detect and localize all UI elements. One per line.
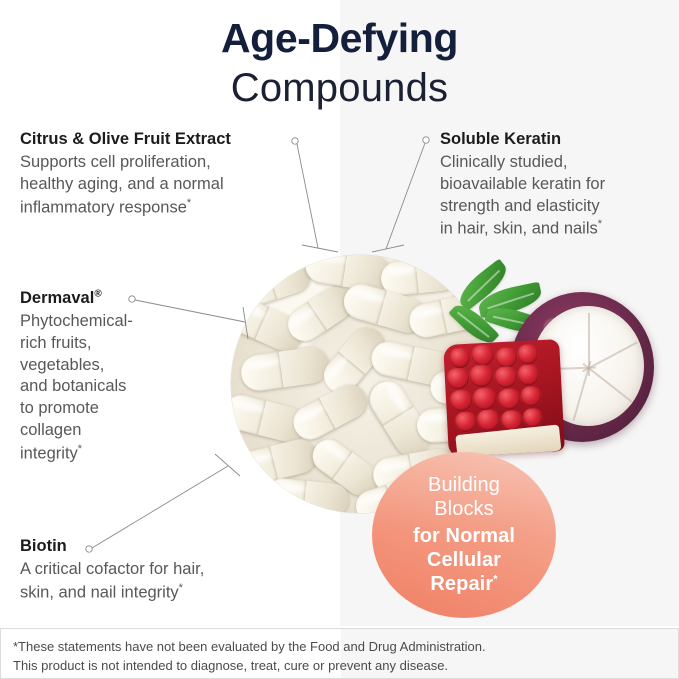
callout-citrus-olive-fruit-extract: Citrus & Olive Fruit Extract Supports ce… — [20, 129, 320, 219]
callout-title: Citrus & Olive Fruit Extract — [20, 129, 320, 150]
callout-body-text: Supports cell proliferation, healthy agi… — [20, 153, 224, 216]
connector-tick-keratin — [372, 245, 404, 252]
disclaimer-box: *These statements have not been evaluate… — [0, 628, 679, 679]
page-title: Age-Defying Compounds — [0, 16, 679, 112]
infographic-root: Age-Defying Compounds — [0, 0, 679, 679]
footnote-marker: * — [179, 582, 183, 594]
callout-body-text: Phytochemical- rich fruits, vegetables, … — [20, 312, 133, 463]
callout-body: Phytochemical- rich fruits, vegetables, … — [20, 311, 200, 466]
disclaimer-text: *These statements have not been evaluate… — [1, 629, 678, 676]
callout-body: Clinically studied, bioavailable keratin… — [440, 152, 670, 241]
connector-dot-keratin — [423, 137, 429, 143]
callout-title-text: Dermaval — [20, 289, 94, 307]
callout-body-text: A critical cofactor for hair, skin, and … — [20, 560, 204, 601]
footnote-marker: * — [598, 218, 602, 230]
title-line-secondary: Compounds — [0, 64, 679, 112]
callout-soluble-keratin: Soluble Keratin Clinically studied, bioa… — [440, 129, 670, 241]
registered-trademark-icon: ® — [94, 289, 101, 300]
callout-biotin: Biotin A critical cofactor for hair, ski… — [20, 536, 270, 604]
callout-title: Biotin — [20, 536, 270, 557]
callout-title: Soluble Keratin — [440, 129, 670, 150]
callout-body: A critical cofactor for hair, skin, and … — [20, 559, 270, 604]
connector-tick-citrus — [302, 245, 338, 252]
callout-title: Dermaval® — [20, 288, 200, 309]
connector-line-keratin — [386, 143, 425, 249]
connector-tick-dermaval — [243, 307, 248, 339]
footnote-marker: * — [187, 197, 191, 209]
callout-body-text: Clinically studied, bioavailable keratin… — [440, 153, 605, 238]
connector-tick-biotin — [215, 454, 240, 476]
footnote-marker: * — [78, 443, 82, 455]
callout-dermaval: Dermaval® Phytochemical- rich fruits, ve… — [20, 288, 200, 466]
title-line-primary: Age-Defying — [0, 16, 679, 62]
callout-body: Supports cell proliferation, healthy agi… — [20, 152, 320, 219]
